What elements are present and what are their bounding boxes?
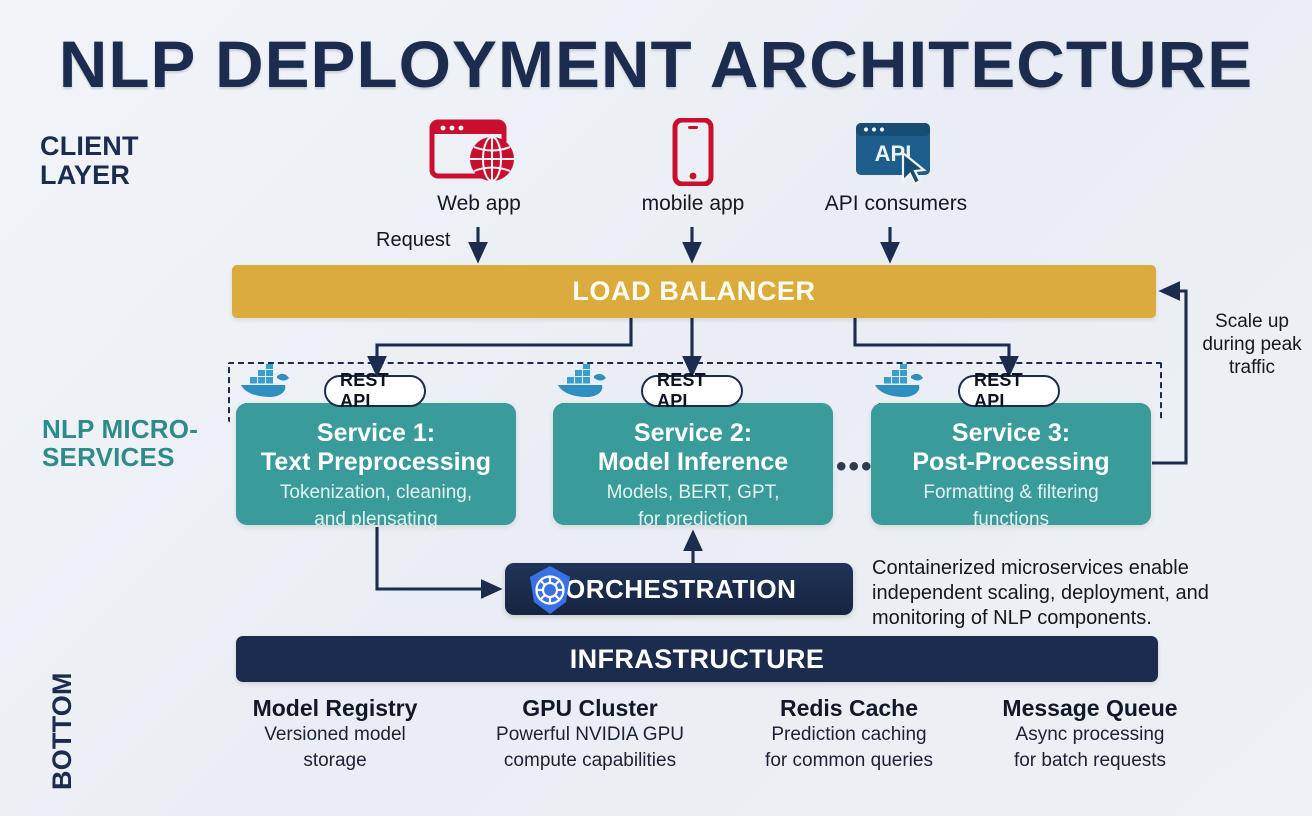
infra-item-message-queue: Message Queue Async processing for batch… <box>972 696 1208 772</box>
rest-api-badge-1[interactable]: REST API <box>324 375 426 407</box>
infra-item-model-registry: Model Registry Versioned model storage <box>217 696 453 772</box>
service-desc-line1: Models, BERT, GPT, <box>553 482 833 504</box>
layer-label-bottom: BOTTOM <box>48 620 77 790</box>
request-label: Request <box>376 229 451 252</box>
service-title-line1: Service 1: <box>236 419 516 448</box>
client-label: API consumers <box>806 192 986 216</box>
infra-title: Model Registry <box>217 696 453 721</box>
service-card-3[interactable]: Service 3: Post-Processing Formatting & … <box>871 403 1151 525</box>
service-title-line2: Post-Processing <box>871 448 1151 477</box>
service-desc-line1: Formatting & filtering <box>871 482 1151 504</box>
api-window-cursor-icon: API <box>806 116 986 188</box>
infra-desc-line2: compute capabilities <box>472 750 708 772</box>
service-card-2[interactable]: Service 2: Model Inference Models, BERT,… <box>553 403 833 525</box>
infra-title: Redis Cache <box>731 696 967 721</box>
rest-api-badge-2[interactable]: REST API <box>641 375 743 407</box>
client-label: Web app <box>394 192 564 216</box>
client-web-app[interactable]: Web app <box>394 116 564 216</box>
service-desc-line2: functions <box>871 509 1151 531</box>
smartphone-icon <box>608 116 778 188</box>
page-title: NLP DEPLOYMENT ARCHITECTURE <box>0 26 1312 102</box>
service-title-line2: Model Inference <box>553 448 833 477</box>
infra-desc-line2: storage <box>217 750 453 772</box>
service-desc-line2: and plensating <box>236 509 516 531</box>
infra-title: Message Queue <box>972 696 1208 721</box>
infra-desc-line1: Prediction caching <box>731 724 967 746</box>
client-mobile-app[interactable]: mobile app <box>608 116 778 216</box>
client-api-consumers[interactable]: API API consumers <box>806 116 986 216</box>
services-ellipsis: ••• <box>836 450 872 484</box>
infra-desc-line2: for batch requests <box>972 750 1208 772</box>
service-card-1[interactable]: Service 1: Text Preprocessing Tokenizati… <box>236 403 516 525</box>
infra-title: GPU Cluster <box>472 696 708 721</box>
layer-label-client: CLIENT LAYER <box>40 132 220 190</box>
infra-desc-line1: Powerful NVIDIA GPU <box>472 724 708 746</box>
service-title-line1: Service 3: <box>871 419 1151 448</box>
infrastructure-bar[interactable]: INFRASTRUCTURE <box>236 636 1158 682</box>
browser-globe-icon <box>394 116 564 188</box>
service-desc-line1: Tokenization, cleaning, <box>236 482 516 504</box>
infra-desc-line1: Async processing <box>972 724 1208 746</box>
scale-up-note: Scale up during peak traffic <box>1196 310 1308 380</box>
infra-item-gpu-cluster: GPU Cluster Powerful NVIDIA GPU compute … <box>472 696 708 772</box>
service-title-line1: Service 2: <box>553 419 833 448</box>
containerized-note: Containerized microservices enable indep… <box>872 556 1270 632</box>
client-label: mobile app <box>608 192 778 216</box>
diagram-canvas: NLP DEPLOYMENT ARCHITECTURE CLIENT LAYER… <box>0 0 1312 816</box>
infra-desc-line1: Versioned model <box>217 724 453 746</box>
infra-desc-line2: for common queries <box>731 750 967 772</box>
rest-api-badge-3[interactable]: REST API <box>958 375 1060 407</box>
layer-label-microservices: NLP MICRO-SERVICES <box>42 415 232 471</box>
infra-item-redis-cache: Redis Cache Prediction caching for commo… <box>731 696 967 772</box>
service-desc-line2: for prediction <box>553 509 833 531</box>
load-balancer-bar[interactable]: LOAD BALANCER <box>232 265 1156 318</box>
service-title-line2: Text Preprocessing <box>236 448 516 477</box>
kubernetes-icon <box>523 564 577 616</box>
